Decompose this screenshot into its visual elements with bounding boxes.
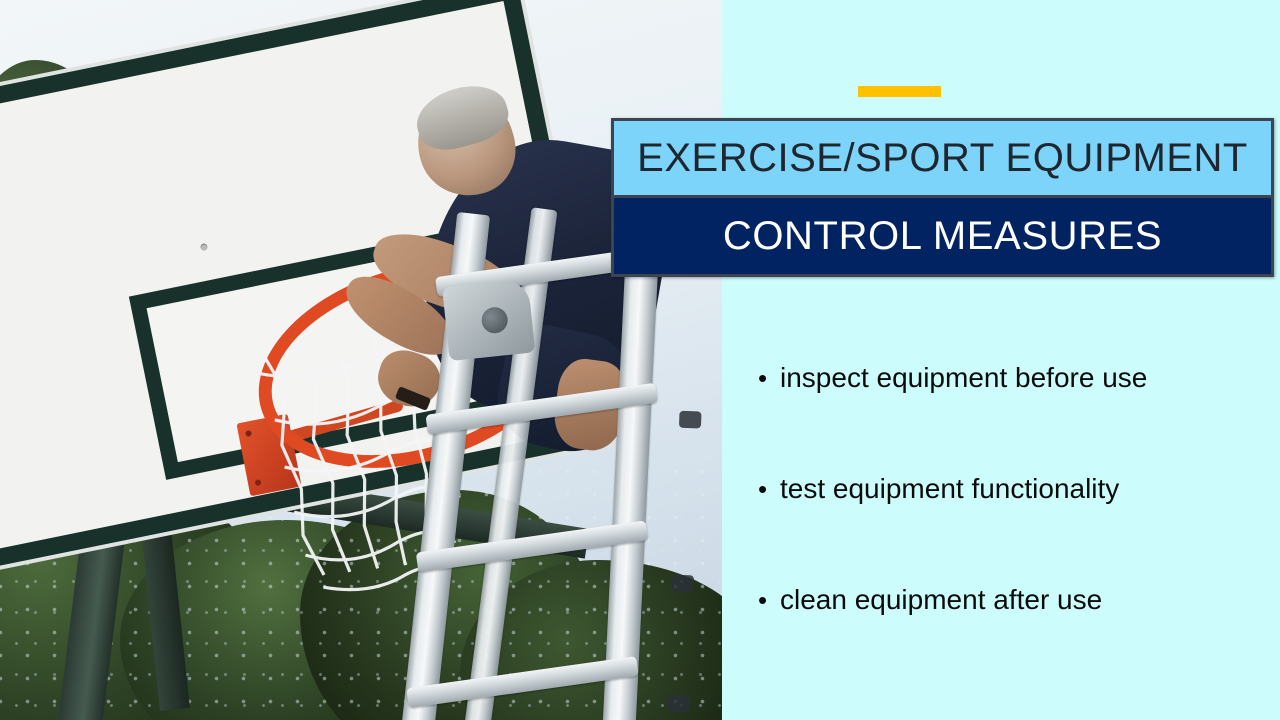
- bullet-marker-icon: •: [758, 362, 780, 395]
- ladder-slot: [671, 575, 694, 593]
- title-band-secondary: CONTROL MEASURES: [614, 198, 1271, 274]
- ladder-rail: [601, 225, 660, 720]
- title-band-primary: EXERCISE/SPORT EQUIPMENT: [614, 121, 1271, 198]
- bullet-text: test equipment functionality: [780, 471, 1119, 506]
- slide-title-line2: CONTROL MEASURES: [723, 214, 1162, 259]
- title-block: EXERCISE/SPORT EQUIPMENT CONTROL MEASURE…: [611, 118, 1274, 277]
- list-item: • inspect equipment before use: [758, 360, 1258, 395]
- bullet-marker-icon: •: [758, 584, 780, 617]
- backboard-bolt: [200, 243, 208, 251]
- list-item: • test equipment functionality: [758, 471, 1258, 506]
- bullet-list: • inspect equipment before use • test eq…: [758, 360, 1258, 617]
- ladder-slot: [679, 411, 702, 429]
- accent-bar: [858, 86, 941, 97]
- bullet-marker-icon: •: [758, 473, 780, 506]
- slide-title-line1: EXERCISE/SPORT EQUIPMENT: [637, 136, 1248, 181]
- bullet-text: inspect equipment before use: [780, 360, 1147, 395]
- ladder-slot: [667, 695, 690, 713]
- presentation-slide: EXERCISE/SPORT EQUIPMENT CONTROL MEASURE…: [0, 0, 1280, 720]
- aluminum-ladder: [376, 239, 722, 720]
- bullet-text: clean equipment after use: [780, 582, 1102, 617]
- list-item: • clean equipment after use: [758, 582, 1258, 617]
- slide-photo: [0, 0, 722, 720]
